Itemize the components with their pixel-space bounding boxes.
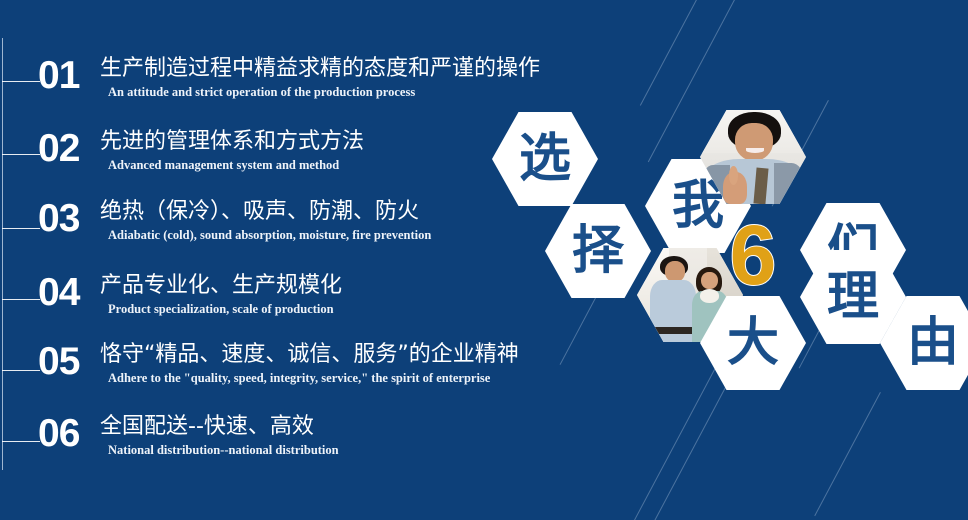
hex-cell-ze: 择: [545, 204, 651, 298]
hex-glyph: 择: [572, 225, 624, 277]
hex-cluster: 选 择 我: [0, 0, 968, 520]
hex-cell-xuan: 选: [492, 112, 598, 206]
photo-man-belt: [652, 327, 694, 334]
hex-glyph-six: 6: [730, 213, 777, 297]
photo-man-face: [665, 261, 685, 282]
promo-banner: 01 生产制造过程中精益求精的态度和严谨的操作 An attitude and …: [0, 0, 968, 520]
hex-glyph: 大: [727, 317, 779, 369]
photo-woman-collar: [700, 289, 719, 302]
hex-glyph: 由: [907, 317, 959, 369]
photo-face: [735, 123, 773, 161]
hex-glyph: 理: [827, 271, 879, 323]
hex-glyph: 选: [519, 133, 571, 185]
photo-jacket-right: [774, 163, 804, 204]
